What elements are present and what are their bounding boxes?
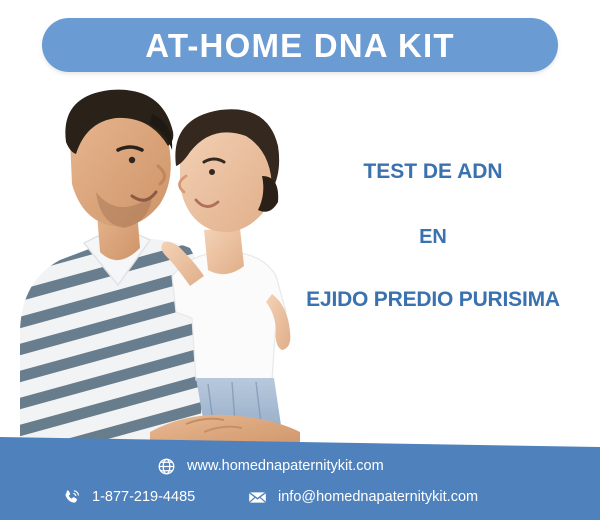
footer-phone-label: 1-877-219-4485 xyxy=(92,490,195,505)
footer-email[interactable]: info@homednapaternitykit.com xyxy=(246,486,478,508)
family-photo xyxy=(0,80,300,452)
headline-line-3: EJIDO PREDIO PURISIMA xyxy=(272,288,594,311)
globe-icon xyxy=(155,455,177,477)
footer-website-label: www.homednapaternitykit.com xyxy=(187,459,384,474)
footer-contact-group: www.homednapaternitykit.com 1-877-219-44… xyxy=(0,430,600,520)
poster-canvas: AT-HOME DNA KIT xyxy=(0,0,600,520)
phone-icon xyxy=(60,486,82,508)
headline-line-1: TEST DE ADN xyxy=(272,160,594,183)
envelope-icon xyxy=(246,486,268,508)
headline-line-2: EN xyxy=(272,226,594,248)
footer-email-label: info@homednapaternitykit.com xyxy=(278,490,478,505)
header-title: AT-HOME DNA KIT xyxy=(145,29,454,62)
family-photo-artwork xyxy=(0,80,300,452)
footer-website[interactable]: www.homednapaternitykit.com xyxy=(155,455,384,477)
footer-phone[interactable]: 1-877-219-4485 xyxy=(60,486,195,508)
headline-block: TEST DE ADN EN EJIDO PREDIO PURISIMA xyxy=(272,160,594,311)
header-banner: AT-HOME DNA KIT xyxy=(42,18,558,72)
